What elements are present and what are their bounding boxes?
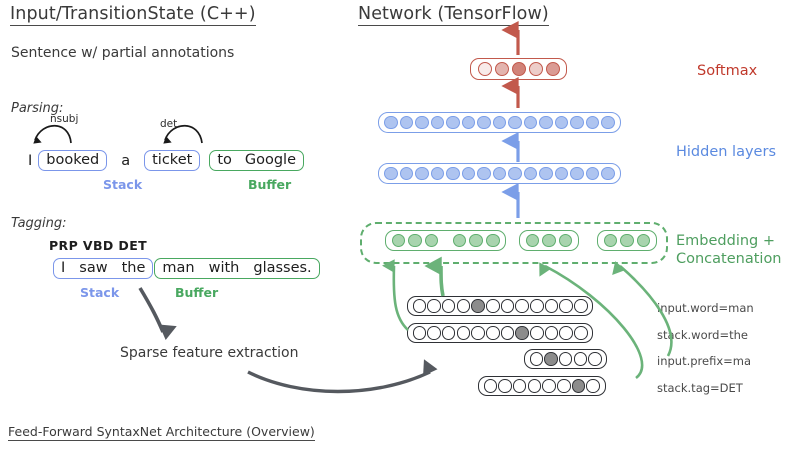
token-box-stack-tagging[interactable]: I saw the xyxy=(53,258,153,279)
hidden-layer-1[interactable] xyxy=(378,112,621,133)
parsing-token-row: I booked a ticket to Google xyxy=(22,150,304,171)
sparse-node-0-4 xyxy=(471,299,485,313)
sparse-feature-label-3: stack.tag=DET xyxy=(657,381,743,395)
arrow-feature-to-embedding-1 xyxy=(441,266,443,296)
sparse-node-1-1 xyxy=(427,326,441,340)
hidden1-node-8 xyxy=(508,116,522,130)
hidden-layer-2[interactable] xyxy=(378,163,621,184)
token-with: with xyxy=(202,259,247,278)
softmax-layer[interactable] xyxy=(470,58,567,80)
token-man: man xyxy=(155,259,201,278)
sparse-node-2-0 xyxy=(530,352,544,366)
token-booked: booked xyxy=(39,151,106,170)
hidden2-node-11 xyxy=(555,167,569,181)
token-box-booked[interactable]: booked xyxy=(38,150,107,171)
sparse-node-1-11 xyxy=(574,326,588,340)
sparse-node-0-5 xyxy=(486,299,500,313)
sparse-node-0-9 xyxy=(545,299,559,313)
parsing-stack-label: Stack xyxy=(103,177,142,192)
sparse-feature-label-2: input.prefix=ma xyxy=(657,354,751,368)
tagging-token-row: I saw the man with glasses. xyxy=(53,258,320,279)
embedding-node-0-0-2 xyxy=(425,234,439,248)
embedding-side-label-line: Concatenation xyxy=(676,251,782,269)
hidden1-node-14 xyxy=(601,116,615,130)
hidden1-node-3 xyxy=(431,116,445,130)
embedding-node-1-0-2 xyxy=(559,234,573,248)
hidden1-node-9 xyxy=(524,116,538,130)
arrow-extraction-to-features xyxy=(248,372,430,392)
sparse-feature-row-2[interactable] xyxy=(524,349,607,369)
embedding-node-2-0-2 xyxy=(637,234,651,248)
hidden1-node-2 xyxy=(415,116,429,130)
sparse-feature-label-0: input.word=man xyxy=(657,301,754,315)
sparse-node-1-2 xyxy=(442,326,456,340)
sparse-node-3-2 xyxy=(513,379,527,393)
parsing-buffer-label: Buffer xyxy=(248,177,291,192)
hidden2-node-13 xyxy=(586,167,600,181)
sparse-node-3-4 xyxy=(542,379,556,393)
hidden2-node-3 xyxy=(431,167,445,181)
token-to: to xyxy=(210,151,239,170)
softmax-node-1 xyxy=(495,62,509,76)
sparse-node-1-10 xyxy=(559,326,573,340)
embedding-node-2-0-0 xyxy=(604,234,618,248)
sparse-node-3-0 xyxy=(484,379,498,393)
arc-label-nsubj: nsubj xyxy=(50,113,78,125)
embedding-side-label: Embedding +Concatenation xyxy=(676,233,782,268)
embedding-group-1[interactable] xyxy=(519,230,579,251)
sparse-node-0-3 xyxy=(457,299,471,313)
sparse-node-1-7 xyxy=(515,326,529,340)
embedding-node-0-0-1 xyxy=(408,234,422,248)
sparse-node-1-0 xyxy=(413,326,427,340)
hidden1-node-12 xyxy=(570,116,584,130)
arrow-to-sparse-extraction xyxy=(140,288,163,332)
token-google: Google xyxy=(239,151,303,170)
hidden2-node-6 xyxy=(477,167,491,181)
sparse-node-3-5 xyxy=(557,379,571,393)
tagging-section-label: Tagging: xyxy=(11,216,67,231)
sparse-node-0-7 xyxy=(515,299,529,313)
sparse-node-2-4 xyxy=(588,352,602,366)
softmax-node-0 xyxy=(478,62,492,76)
token-a: a xyxy=(107,153,144,169)
embedding-node-1-0-1 xyxy=(542,234,556,248)
figure-caption: Feed-Forward SyntaxNet Architecture (Ove… xyxy=(8,424,315,441)
sparse-node-2-3 xyxy=(574,352,588,366)
sparse-node-0-10 xyxy=(559,299,573,313)
hidden2-node-5 xyxy=(462,167,476,181)
hidden1-node-0 xyxy=(384,116,398,130)
sparse-node-1-4 xyxy=(471,326,485,340)
softmax-node-2 xyxy=(512,62,526,76)
hidden2-node-12 xyxy=(570,167,584,181)
hidden2-node-10 xyxy=(539,167,553,181)
sparse-node-1-9 xyxy=(545,326,559,340)
sparse-node-1-6 xyxy=(501,326,515,340)
embedding-group-2[interactable] xyxy=(597,230,657,251)
embedding-node-0-0-0 xyxy=(392,234,406,248)
tagging-stack-label: Stack xyxy=(80,285,119,300)
sparse-feature-label-1: stack.word=the xyxy=(657,328,748,342)
token-ticket: ticket xyxy=(145,151,199,170)
sparse-node-3-7 xyxy=(586,379,600,393)
hidden1-node-10 xyxy=(539,116,553,130)
embedding-group-0[interactable] xyxy=(385,230,506,251)
sparse-node-0-11 xyxy=(574,299,588,313)
hidden2-node-4 xyxy=(446,167,460,181)
hidden-layers-side-label: Hidden layers xyxy=(676,144,776,160)
embedding-node-2-0-1 xyxy=(620,234,634,248)
token-saw: saw xyxy=(72,259,114,278)
token-i2: I xyxy=(54,259,72,278)
dependency-arc-nsubj xyxy=(35,126,71,143)
token-glasses: glasses. xyxy=(246,259,318,278)
token-box-buffer-parsing[interactable]: to Google xyxy=(209,150,304,171)
token-box-ticket[interactable]: ticket xyxy=(144,150,200,171)
sparse-node-2-2 xyxy=(559,352,573,366)
hidden1-node-1 xyxy=(400,116,414,130)
hidden2-node-9 xyxy=(524,167,538,181)
sparse-node-0-0 xyxy=(413,299,427,313)
token-the: the xyxy=(115,259,153,278)
embedding-node-0-1-0 xyxy=(453,234,467,248)
hidden1-node-7 xyxy=(493,116,507,130)
token-box-buffer-tagging[interactable]: man with glasses. xyxy=(154,258,319,279)
arrow-feature-to-embedding-0 xyxy=(394,266,408,330)
embedding-side-label-line: Embedding + xyxy=(676,233,782,251)
embedding-node-1-0-0 xyxy=(526,234,540,248)
right-panel-title: Network (TensorFlow) xyxy=(358,4,549,26)
hidden1-node-4 xyxy=(446,116,460,130)
hidden2-node-14 xyxy=(601,167,615,181)
sparse-feature-extraction-label: Sparse feature extraction xyxy=(120,345,298,361)
hidden2-node-2 xyxy=(415,167,429,181)
sparse-node-3-6 xyxy=(572,379,586,393)
tagging-buffer-label: Buffer xyxy=(175,285,218,300)
sparse-node-0-2 xyxy=(442,299,456,313)
hidden1-node-6 xyxy=(477,116,491,130)
sparse-feature-row-1[interactable] xyxy=(407,323,593,343)
sparse-node-3-3 xyxy=(528,379,542,393)
left-panel-title: Input/TransitionState (C++) xyxy=(10,4,256,26)
pos-tag-sequence: PRP VBD DET xyxy=(49,238,147,253)
token-i: I xyxy=(22,153,38,169)
hidden2-node-0 xyxy=(384,167,398,181)
hidden2-node-1 xyxy=(400,167,414,181)
sparse-node-1-5 xyxy=(486,326,500,340)
hidden2-node-8 xyxy=(508,167,522,181)
hidden1-node-11 xyxy=(555,116,569,130)
softmax-node-4 xyxy=(546,62,560,76)
softmax-side-label: Softmax xyxy=(697,63,757,79)
hidden2-node-7 xyxy=(493,167,507,181)
embedding-node-0-1-1 xyxy=(469,234,483,248)
embedding-node-0-1-2 xyxy=(486,234,500,248)
sparse-feature-row-0[interactable] xyxy=(407,296,593,316)
hidden1-node-5 xyxy=(462,116,476,130)
left-panel-subtitle: Sentence w/ partial annotations xyxy=(11,45,234,61)
softmax-node-3 xyxy=(529,62,543,76)
hidden1-node-13 xyxy=(586,116,600,130)
arc-label-det: det xyxy=(160,118,177,130)
sparse-node-0-8 xyxy=(530,299,544,313)
sparse-feature-row-3[interactable] xyxy=(478,376,606,396)
sparse-node-2-1 xyxy=(544,352,558,366)
sparse-node-0-6 xyxy=(501,299,515,313)
sparse-node-1-8 xyxy=(530,326,544,340)
diagram-canvas: Input/TransitionState (C++) Sentence w/ … xyxy=(0,0,800,450)
sparse-node-0-1 xyxy=(427,299,441,313)
sparse-node-3-1 xyxy=(498,379,512,393)
sparse-node-1-3 xyxy=(457,326,471,340)
